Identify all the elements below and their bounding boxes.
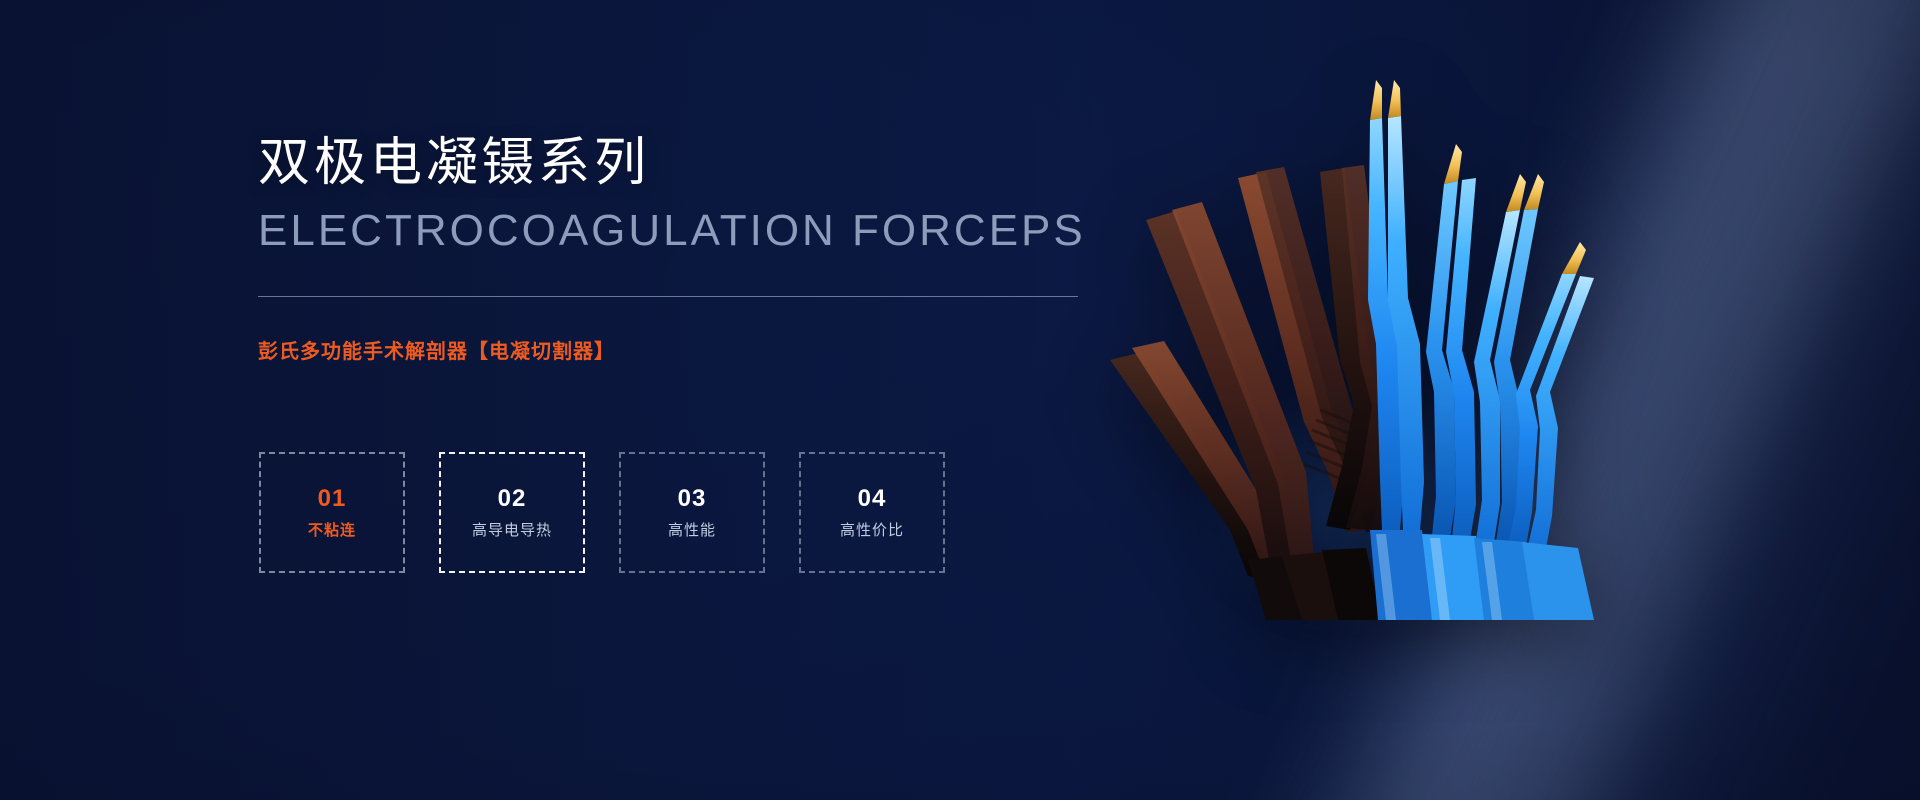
product-subtitle: 彭氏多功能手术解剖器【电凝切割器】 [258,335,1158,364]
feature-label: 高性价比 [840,523,904,538]
feature-label: 不粘连 [308,523,356,538]
feature-highlights: 01 不粘连 02 高导电导热 03 高性能 04 高性价比 [259,452,945,573]
feature-card-04[interactable]: 04 高性价比 [799,452,945,573]
feature-number: 03 [678,487,707,511]
forceps-blue-2 [1426,144,1476,540]
product-hero-banner: 双极电凝镊系列 ELECTROCOAGULATION FORCEPS 彭氏多功能… [0,0,1920,800]
hero-copy: 双极电凝镊系列 ELECTROCOAGULATION FORCEPS 彭氏多功能… [258,132,1158,364]
feature-card-02[interactable]: 02 高导电导热 [439,452,585,573]
feature-number: 04 [858,487,887,511]
feature-label: 高导电导热 [472,523,552,538]
feature-card-01[interactable]: 01 不粘连 [259,452,405,573]
feature-label: 高性能 [668,523,716,538]
feature-number: 02 [498,487,527,511]
feature-number: 01 [318,487,347,511]
page-title-en: ELECTROCOAGULATION FORCEPS [258,207,1158,255]
feature-card-03[interactable]: 03 高性能 [619,452,765,573]
background-gradient-overlay [0,0,1920,800]
divider-rule [258,296,1078,297]
page-title-cn: 双极电凝镊系列 [258,132,1158,195]
